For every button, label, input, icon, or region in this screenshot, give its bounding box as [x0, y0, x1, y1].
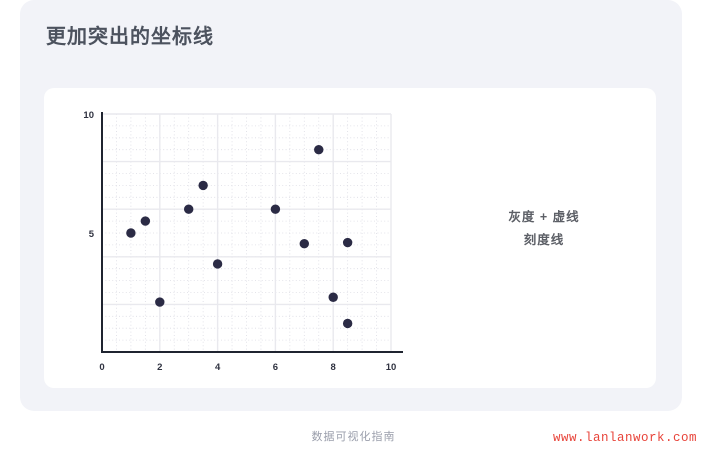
annotation-line-2: 刻度线 [444, 229, 644, 252]
annotation-line-1: 灰度 + 虚线 [444, 206, 644, 229]
y-tick-label: 5 [89, 229, 95, 240]
data-point [198, 181, 207, 190]
data-point [271, 205, 280, 214]
data-point [155, 297, 164, 306]
x-tick-label: 0 [99, 362, 104, 373]
data-point [213, 259, 222, 268]
data-point [126, 228, 135, 237]
x-tick-label: 2 [157, 362, 162, 373]
data-point [300, 239, 309, 248]
data-point [141, 216, 150, 225]
data-point [343, 319, 352, 328]
scatter-chart: 0246810510 [44, 88, 444, 388]
x-tick-label: 6 [273, 362, 278, 373]
y-tick-label: 10 [83, 110, 94, 121]
watermark: www.lanlanwork.com [553, 431, 697, 445]
page-title: 更加突出的坐标线 [46, 20, 214, 49]
data-point [314, 145, 323, 154]
data-point [343, 238, 352, 247]
x-tick-label: 8 [331, 362, 336, 373]
data-point [184, 205, 193, 214]
x-tick-label: 10 [386, 362, 397, 373]
scatter-chart-svg: 0246810510 [44, 88, 444, 388]
chart-card: 0246810510 灰度 + 虚线 刻度线 [44, 88, 656, 388]
annotation-text: 灰度 + 虚线 刻度线 [444, 206, 644, 252]
slide-panel: 更加突出的坐标线 0246810510 灰度 + 虚线 刻度线 [20, 0, 682, 411]
x-tick-label: 4 [215, 362, 221, 373]
data-point [329, 293, 338, 302]
